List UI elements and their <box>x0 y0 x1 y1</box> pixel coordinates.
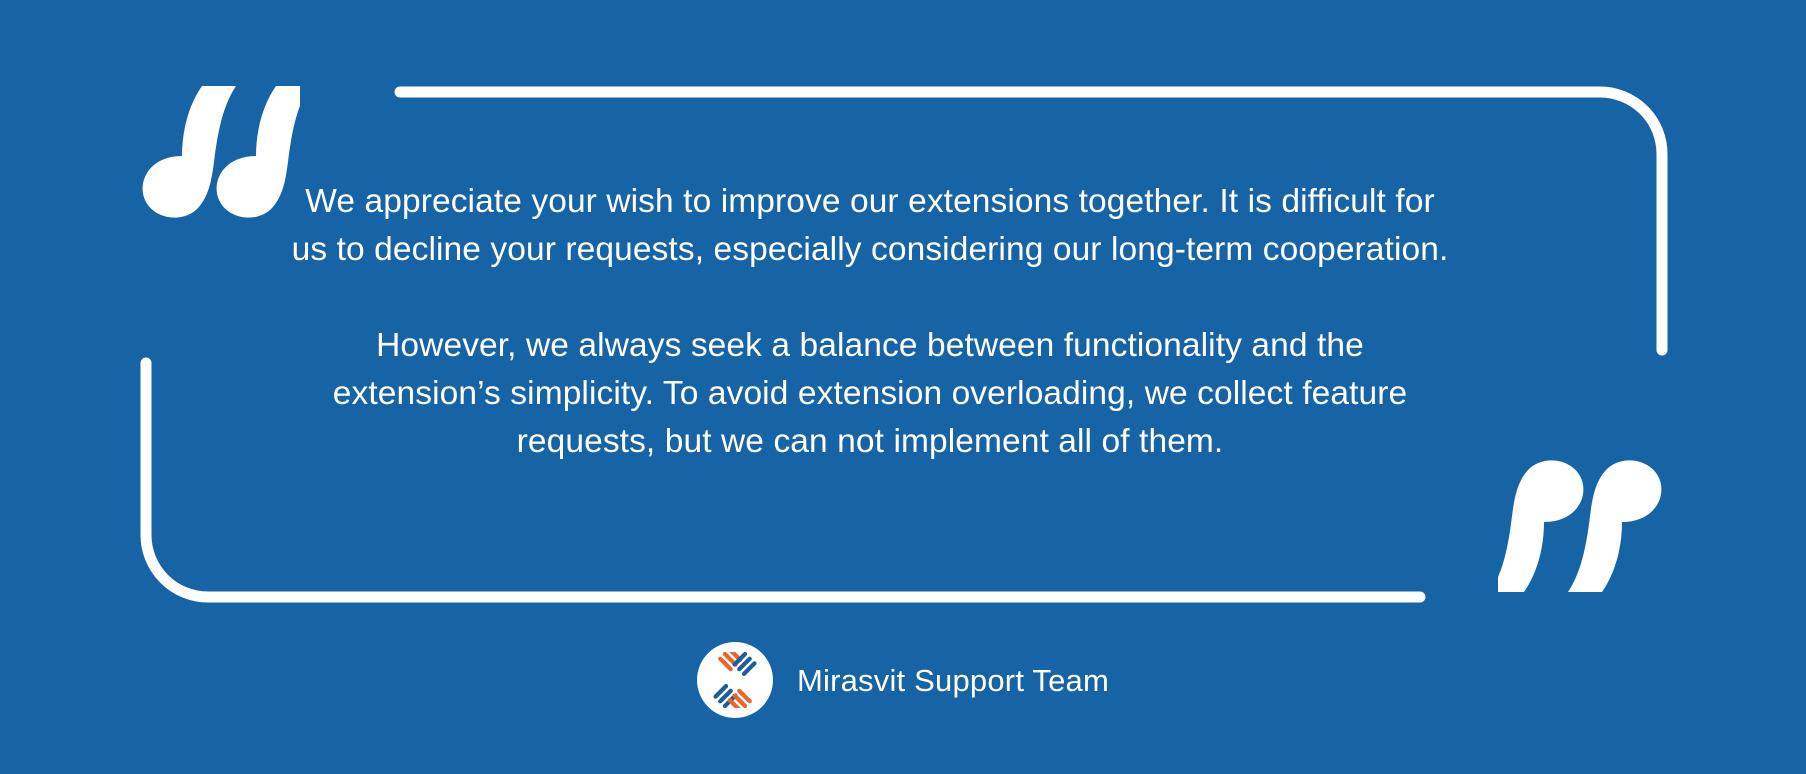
testimonial-card: We appreciate your wish to improve our e… <box>0 0 1806 774</box>
brand-badge <box>697 642 773 718</box>
quote-paragraph-2: However, we always seek a balance betwee… <box>290 322 1450 466</box>
quote-close-left-glyph <box>1498 460 1583 592</box>
quote-paragraph-1: We appreciate your wish to improve our e… <box>290 178 1450 274</box>
signature-name: Mirasvit Support Team <box>797 665 1109 696</box>
quote-close-icon <box>1498 458 1664 600</box>
mirasvit-pinwheel-logo-icon <box>707 652 763 708</box>
quote-open-right-glyph <box>217 86 300 218</box>
quote-close-right-glyph <box>1568 460 1661 592</box>
quote-open-icon <box>140 78 300 220</box>
quote-text-block: We appreciate your wish to improve our e… <box>290 178 1450 466</box>
signature-row: Mirasvit Support Team <box>0 642 1806 718</box>
